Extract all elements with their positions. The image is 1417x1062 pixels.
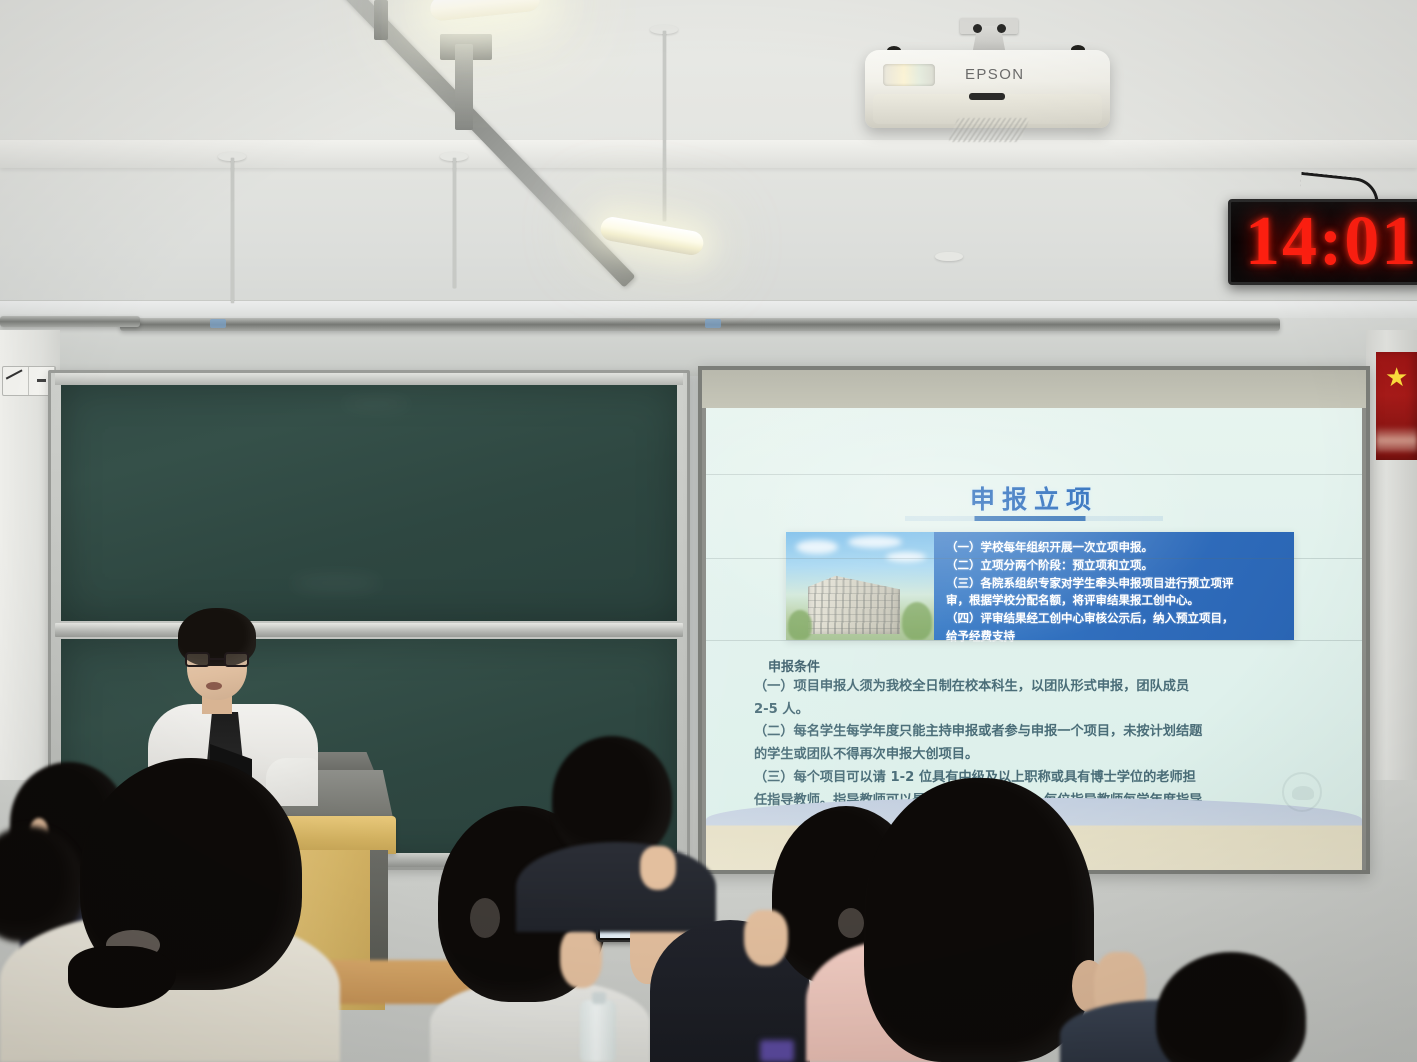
blackboard-upper-panel [61,385,677,621]
callout-line: 给予经费支持 [946,628,1284,646]
presenter-glasses [185,652,249,668]
chalk-smudge [341,399,411,409]
switch-toggle[interactable] [37,379,46,382]
cloud-shape [848,536,902,548]
slide-title: 申报立项 [706,480,1362,516]
ceiling-pipe-horizontal [120,318,1280,331]
flag-glare [1376,426,1417,452]
blackboard-top-rail [55,373,683,385]
glasses-bridge [210,658,224,660]
cloud-shape [796,540,838,554]
led-wall-clock: 14:01 [1228,199,1417,285]
projector-air-grill [948,118,1030,142]
callout-line: （二）立项分两个阶段：预立项和立项。 [946,557,1284,575]
condition-line: 的学生或团队不得再次申报大创项目。 [754,744,1324,767]
school-logo-watermark [1282,772,1322,812]
bottle-cap [592,992,606,1004]
glasses-lens-left [185,652,210,667]
ceiling-pipe-horizontal-left [0,316,140,327]
light-hanger-rod [231,158,234,303]
callout-line: （一）学校每年组织开展一次立项申报。 [946,539,1284,557]
glasses-lens-right [224,652,249,667]
desk-item-tag [760,1040,794,1062]
pipe-tape-band [705,319,721,328]
projector-mount-bolt [973,24,982,33]
classroom-photo: EPSON 14:01 ★ 申报立项 [0,0,1417,1062]
slide-title-underline [905,516,1163,521]
water-bottle [580,1000,616,1062]
condition-line: （二）每名学生每学年度只能主持申报或者参与申报一个项目，未按计划结题 [754,721,1324,744]
conditions-heading: 申报条件 [768,656,820,675]
presenter-mouth [206,682,222,690]
audience-hand [744,910,788,966]
projector-vent [883,64,935,86]
tree-shape [788,610,812,640]
callout-line: 审，根据学校分配名额，将评审结果报工创中心。 [946,592,1284,610]
light-ceiling-cap [935,252,963,261]
audience-head [864,778,1094,1062]
condition-line: （三）每个项目可以请 1-2 位具有中级及以上职称或具有博士学位的老师担 [754,767,1324,790]
pipe-hanger [374,0,388,40]
blue-callout-text: （一）学校每年组织开展一次立项申报。 （二）立项分两个阶段：预立项和立项。 （三… [934,532,1294,640]
projector-mount-bolt [997,24,1006,33]
pipe-tape-band [210,319,226,328]
campus-building-photo [786,532,934,640]
projector-brand-label: EPSON [965,66,1025,83]
condition-line: 2-5 人。 [754,699,1324,722]
callout-line: （三）各院系组织专家对学生牵头申报项目进行预立项评 [946,575,1284,593]
projector-scan-line [706,558,1362,559]
switch-marking [6,369,27,386]
projector-scan-line [706,640,1362,641]
slide-blue-callout: （一）学校每年组织开展一次立项申报。 （二）立项分两个阶段：预立项和立项。 （三… [786,532,1294,640]
hair-clip [838,908,864,938]
light-hanger-rod [453,158,456,288]
cloud-shape [886,552,926,562]
chalk-smudge [291,575,381,591]
projector-scan-line [706,474,1362,475]
projector-lens [969,93,1005,100]
audience-hand [640,846,676,890]
building-windows [808,572,900,634]
hair-clip [470,898,500,938]
switch-left[interactable] [3,367,29,395]
building-shape [808,572,900,634]
callout-line: （四）评审结果经工创中心审核公示后，纳入预立项目， [946,610,1284,628]
projector-body: EPSON [865,50,1110,128]
light-hanger-rod [663,31,666,221]
clock-time-display: 14:01 [1245,207,1417,277]
condition-line: （一）项目申报人须为我校全日制在校本科生，以团队形式申报，团队成员 [754,676,1324,699]
pipe-clamp-stem [455,44,473,130]
tree-shape [902,602,932,640]
chinese-flag: ★ [1376,352,1417,460]
screen-top-band [702,370,1366,408]
conditions-body: （一）项目申报人须为我校全日制在校本科生，以团队形式申报，团队成员 2-5 人。… [754,676,1324,812]
ceiling-projector: EPSON [865,18,1110,168]
audience-shoulder [516,842,716,932]
ceiling-soffit [0,140,1417,168]
